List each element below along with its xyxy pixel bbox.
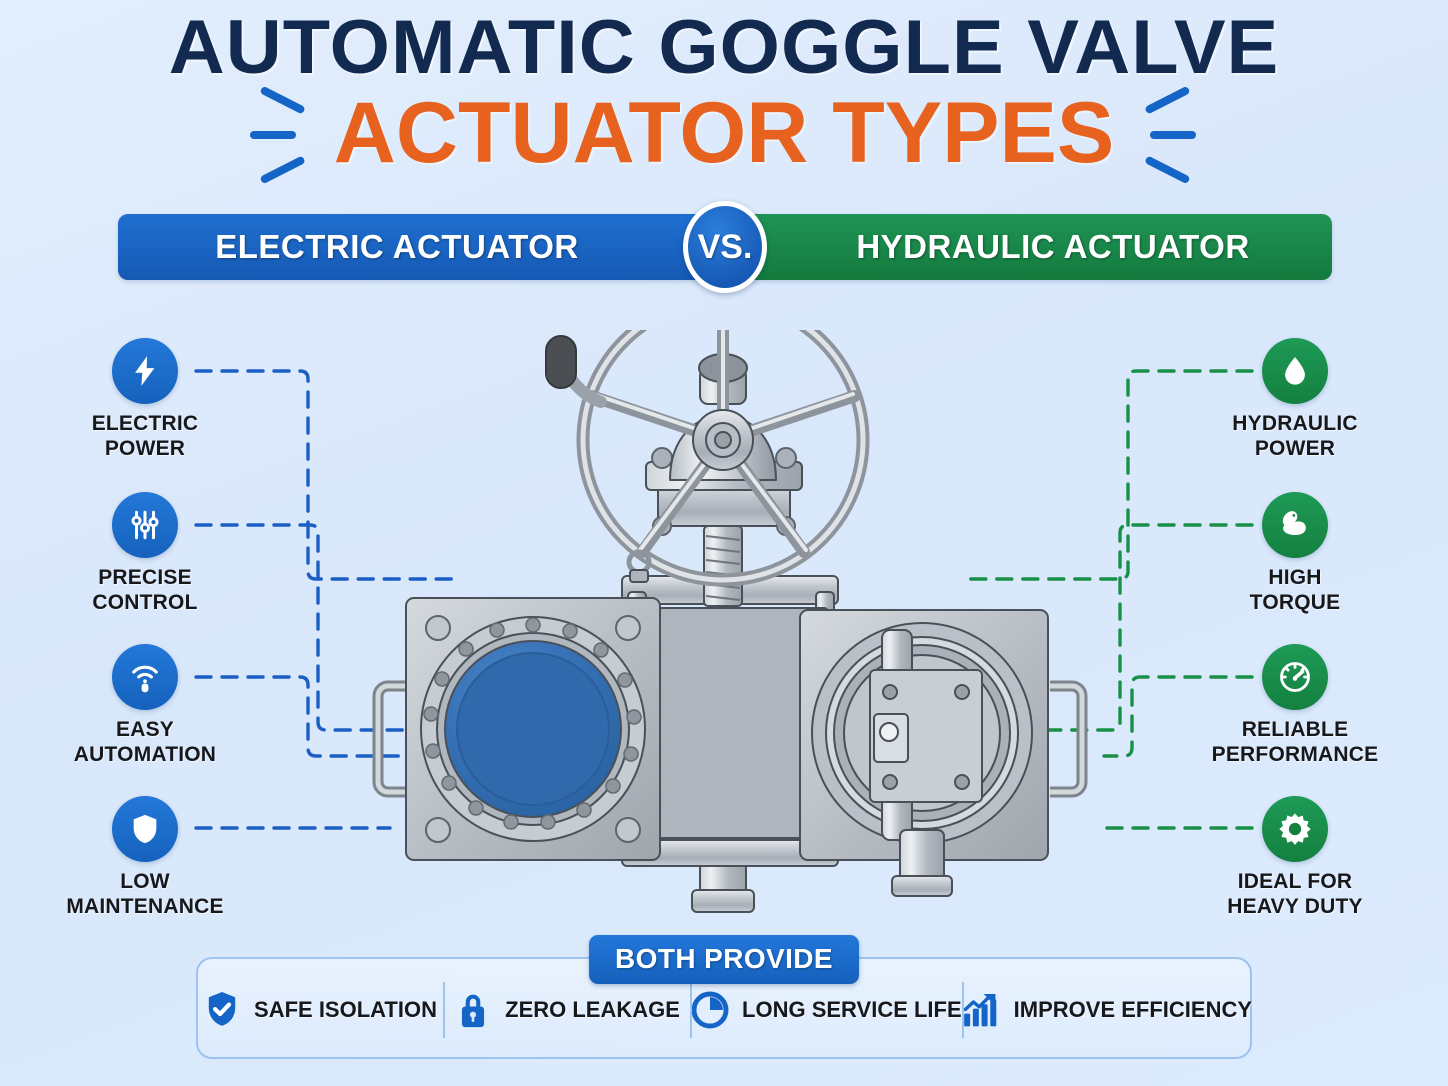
feature-label-line1: PRECISE (98, 566, 192, 589)
sliders-icon (112, 492, 178, 558)
water-droplet-icon (1262, 338, 1328, 404)
both-item-safe-isolation[interactable]: SAFE ISOLATION (196, 980, 443, 1040)
both-item-improve-efficiency[interactable]: IMPROVE EFFICIENCY (962, 980, 1252, 1040)
both-item-label: ZERO LEAKAGE (505, 997, 680, 1023)
lock-icon (453, 987, 493, 1033)
both-item-label: LONG SERVICE LIFE (742, 997, 962, 1023)
lightning-bolt-icon (112, 338, 178, 404)
feature-hydraulic-power[interactable]: HYDRAULIC POWER (1200, 338, 1390, 462)
feature-label-line2: POWER (105, 437, 185, 460)
feature-label-line2: MAINTENANCE (66, 895, 223, 918)
feature-label-line2: POWER (1255, 437, 1335, 460)
title-block: AUTOMATIC GOGGLE VALVE ACTUATOR TYPES (0, 8, 1448, 178)
vs-badge: VS. (683, 201, 767, 293)
feature-label-line2: HEAVY DUTY (1227, 895, 1362, 918)
feature-easy-automation[interactable]: EASY AUTOMATION (50, 644, 240, 768)
hydraulic-actuator-header[interactable]: HYDRAULIC ACTUATOR (714, 214, 1332, 280)
feature-label-line1: EASY (116, 718, 174, 741)
both-item-zero-leakage[interactable]: ZERO LEAKAGE (443, 980, 690, 1040)
goggle-valve-illustration (370, 330, 1090, 930)
feature-label-line2: TORQUE (1250, 591, 1341, 614)
infographic-canvas: AUTOMATIC GOGGLE VALVE ACTUATOR TYPES EL… (0, 0, 1448, 1086)
both-provide-badge: BOTH PROVIDE (589, 935, 859, 984)
feature-label-line1: IDEAL FOR (1238, 870, 1353, 893)
feature-label-line1: HYDRAULIC (1232, 412, 1357, 435)
feature-low-maintenance[interactable]: LOW MAINTENANCE (50, 796, 240, 920)
feature-high-torque[interactable]: HIGH TORQUE (1200, 492, 1390, 616)
both-provide-badge-label: BOTH PROVIDE (615, 943, 833, 974)
page-title-line1: AUTOMATIC GOGGLE VALVE (0, 8, 1448, 88)
feature-label-line1: ELECTRIC (92, 412, 199, 435)
gear-icon (1262, 796, 1328, 862)
feature-label-line2: PERFORMANCE (1212, 743, 1379, 766)
electric-actuator-label: ELECTRIC ACTUATOR (215, 228, 579, 266)
shield-icon (112, 796, 178, 862)
feature-label-line1: HIGH (1268, 566, 1321, 589)
clock-icon (690, 987, 730, 1033)
page-title-line2: ACTUATOR TYPES (334, 90, 1114, 178)
feature-precise-control[interactable]: PRECISE CONTROL (50, 492, 240, 616)
muscle-arm-icon (1262, 492, 1328, 558)
feature-label-line2: CONTROL (92, 591, 197, 614)
shield-check-icon (202, 987, 242, 1033)
both-item-long-service-life[interactable]: LONG SERVICE LIFE (690, 980, 962, 1040)
page-title-line2-row: ACTUATOR TYPES (0, 90, 1448, 178)
gauge-icon (1262, 644, 1328, 710)
both-item-label: SAFE ISOLATION (254, 997, 437, 1023)
burst-decoration-right-icon (1140, 91, 1202, 177)
electric-actuator-header[interactable]: ELECTRIC ACTUATOR (118, 214, 736, 280)
feature-electric-power[interactable]: ELECTRIC POWER (50, 338, 240, 462)
wireless-remote-icon (112, 644, 178, 710)
feature-ideal-for-heavy-duty[interactable]: IDEAL FOR HEAVY DUTY (1200, 796, 1390, 920)
hydraulic-actuator-label: HYDRAULIC ACTUATOR (856, 228, 1249, 266)
feature-label-line1: RELIABLE (1242, 718, 1349, 741)
burst-decoration-left-icon (246, 91, 308, 177)
bar-chart-trend-icon (962, 987, 1002, 1033)
feature-label-line2: AUTOMATION (74, 743, 216, 766)
both-provide-items: SAFE ISOLATION ZERO LEAKAGE LONG SER (196, 980, 1252, 1040)
feature-label-line1: LOW (120, 870, 170, 893)
both-item-label: IMPROVE EFFICIENCY (1014, 997, 1252, 1023)
comparison-header-bar: ELECTRIC ACTUATOR HYDRAULIC ACTUATOR VS. (118, 214, 1332, 280)
vs-label: VS. (698, 228, 753, 267)
feature-reliable-performance[interactable]: RELIABLE PERFORMANCE (1200, 644, 1390, 768)
